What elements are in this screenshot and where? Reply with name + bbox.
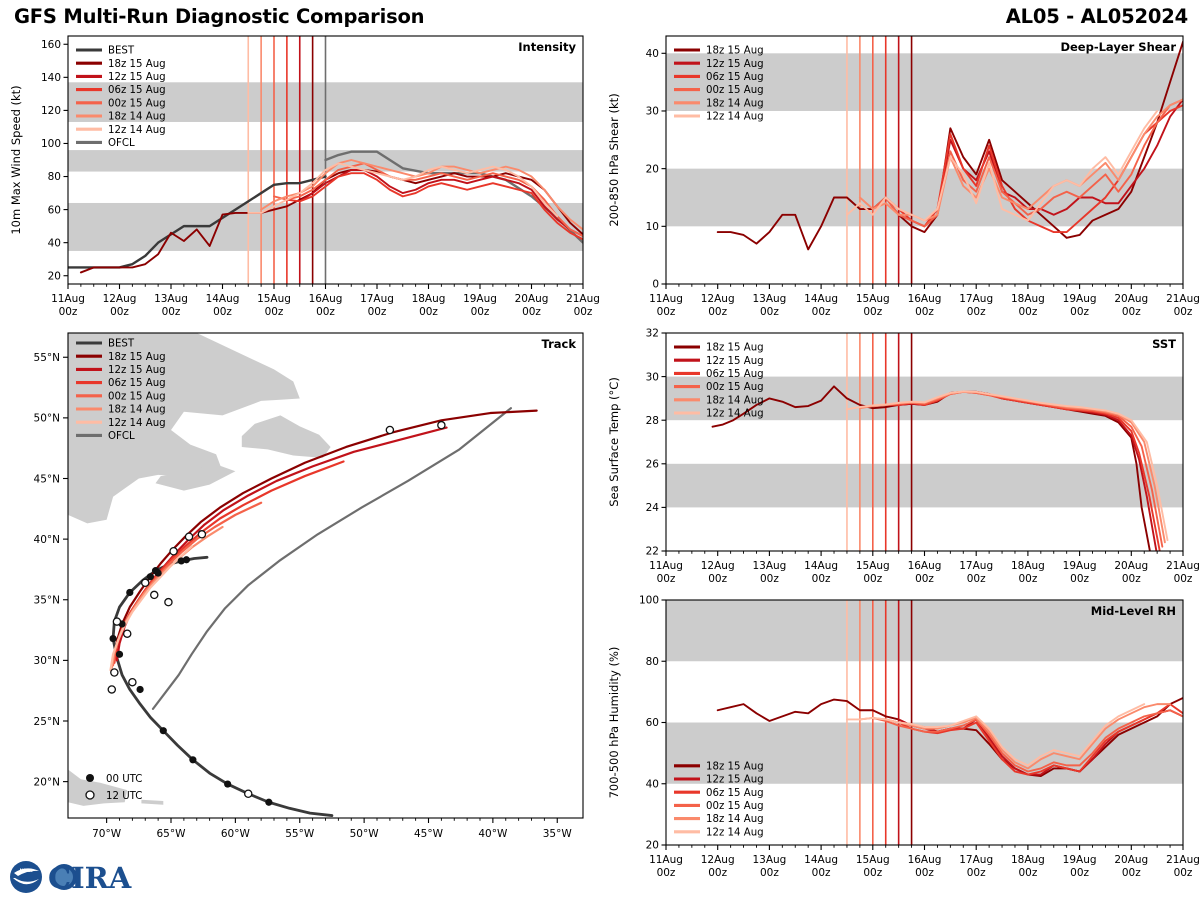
x-tick-label-date: 19Aug [1063,854,1097,866]
x-tick-label-date: 17Aug [959,854,993,866]
x-tick-label-hour: 00z [812,573,831,585]
x-tick-label-date: 16Aug [309,293,343,305]
y-tick-label: 100 [639,595,659,607]
panel-title: Deep-Layer Shear [1060,40,1176,54]
legend-label: 06z 15 Aug [108,85,166,96]
x-tick-label-date: 21Aug [566,293,600,305]
marker-12utc [386,426,393,433]
x-tick-label-date: 12Aug [701,293,735,305]
x-tick-label-hour: 00z [708,867,727,879]
x-tick-label-hour: 00z [967,306,986,318]
x-tick-label-hour: 00z [657,306,676,318]
x-tick-label-hour: 00z [760,867,779,879]
legend-label: 18z 15 Aug [706,761,764,772]
y-tick-label: 60 [646,717,659,729]
x-tick-label-date: 12Aug [701,560,735,572]
legend-label: 12z 15 Aug [706,356,764,367]
y-tick-label: 140 [41,72,61,84]
x-tick-label-hour: 00z [265,306,284,318]
legend-label: 06z 15 Aug [706,72,764,83]
y-tick-label: 10 [646,221,659,233]
marker-12utc [165,599,172,606]
x-tick-label-date: 20Aug [1114,854,1148,866]
x-tick-label-hour: 00z [1122,867,1141,879]
marker-00utc [160,727,167,734]
legend-label: 12z 15 Aug [706,59,764,70]
x-tick-label-hour: 00z [915,306,934,318]
x-tick-label-date: 18Aug [412,293,446,305]
x-tick-label-hour: 00z [1122,573,1141,585]
marker-00utc [126,589,133,596]
sst-chart: 22242628303211Aug00z12Aug00z13Aug00z14Au… [600,325,1200,592]
x-tick-label-date: 15Aug [856,560,890,572]
x-tick-label-date: 13Aug [752,560,786,572]
x-tick-label-hour: 00z [863,573,882,585]
intensity-chart: 2040608010012014016011Aug00z12Aug00z13Au… [0,28,600,325]
legend-label: 18z 15 Aug [108,352,166,363]
legend-label: 18z 14 Aug [108,112,166,123]
marker-12utc [111,669,118,676]
x-tick-label-date: 11Aug [649,854,683,866]
marker-00utc [224,780,231,787]
storm-id-title: AL05 - AL052024 [1006,5,1188,28]
sst-panel[interactable]: 22242628303211Aug00z12Aug00z13Aug00z14Au… [600,325,1200,592]
x-tick-label-hour: 00z [1174,306,1193,318]
x-tick-label-hour: 00z [1174,867,1193,879]
svg-text:NOAA: NOAA [20,868,34,873]
marker-12utc [129,679,136,686]
marker-legend-00utc-icon [86,774,94,782]
x-tick-label-hour: 00z [110,306,129,318]
x-tick-label-date: 21Aug [1166,854,1200,866]
marker-00utc [137,686,144,693]
x-tick-label-hour: 00z [915,573,934,585]
shaded-band-0 [666,464,1183,508]
x-tick-label-date: 20Aug [1114,560,1148,572]
lon-tick-label: 65°W [157,828,187,840]
marker-legend-label: 12 UTC [106,791,142,802]
panel-title: Track [542,337,577,351]
x-tick-label-hour: 00z [522,306,541,318]
marker-00utc [189,756,196,763]
y-tick-label: 40 [646,48,659,60]
x-tick-label-date: 16Aug [908,854,942,866]
x-tick-label-hour: 00z [59,306,78,318]
x-tick-label-hour: 00z [967,867,986,879]
legend-label: BEST [108,339,135,350]
legend-label: 18z 14 Aug [706,814,764,825]
x-tick-label-hour: 00z [316,306,335,318]
track-chart: 20°N25°N30°N35°N40°N45°N50°N55°N70°W65°W… [0,325,600,860]
cira-wordmark: CIRA [48,861,132,895]
x-tick-label-date: 17Aug [360,293,394,305]
x-tick-label-hour: 00z [574,306,593,318]
x-tick-label-date: 18Aug [1011,293,1045,305]
legend-label: 00z 15 Aug [108,391,166,402]
x-tick-label-hour: 00z [419,306,438,318]
x-tick-label-date: 13Aug [154,293,188,305]
y-axis-label: 200-850 hPa Shear (kt) [607,93,621,226]
x-tick-label-date: 13Aug [752,293,786,305]
legend-label: OFCL [108,431,135,442]
x-tick-label-hour: 00z [915,867,934,879]
x-tick-label-hour: 00z [708,306,727,318]
legend-label: OFCL [108,138,135,149]
y-tick-label: 32 [646,328,659,340]
marker-12utc [245,790,252,797]
y-tick-label: 120 [41,105,61,117]
lat-tick-label: 25°N [34,716,60,728]
x-tick-label-hour: 00z [863,306,882,318]
marker-00utc [147,573,154,580]
x-tick-label-hour: 00z [1122,306,1141,318]
lon-tick-label: 35°W [543,828,573,840]
marker-12utc [108,686,115,693]
legend-label: 12z 15 Aug [108,365,166,376]
x-tick-label-date: 14Aug [804,293,838,305]
x-tick-label-date: 19Aug [1063,560,1097,572]
legend-label: 06z 15 Aug [706,788,764,799]
y-tick-label: 20 [646,163,659,175]
track-panel[interactable]: 20°N25°N30°N35°N40°N45°N50°N55°N70°W65°W… [0,325,600,860]
legend-label: 06z 15 Aug [108,378,166,389]
legend-label: 18z 14 Aug [706,395,764,406]
legend-label: 06z 15 Aug [706,369,764,380]
x-tick-label-date: 15Aug [257,293,291,305]
marker-12utc [124,630,131,637]
legend-label: 12z 14 Aug [706,827,764,838]
noaa-logo-icon: NOAA [10,861,42,893]
legend-label: 18z 14 Aug [108,405,166,416]
lat-tick-label: 50°N [34,413,60,425]
marker-00utc [183,556,190,563]
x-tick-label-hour: 00z [1070,867,1089,879]
marker-12utc [151,591,158,598]
y-tick-label: 0 [652,279,659,291]
x-tick-label-date: 11Aug [51,293,85,305]
marker-00utc [155,569,162,576]
marker-00utc [116,651,123,658]
legend-label: 00z 15 Aug [706,85,764,96]
x-tick-label-date: 20Aug [1114,293,1148,305]
x-tick-label-hour: 00z [760,306,779,318]
x-tick-label-date: 15Aug [856,293,890,305]
legend-label: 12z 14 Aug [108,125,166,136]
x-tick-label-date: 18Aug [1011,560,1045,572]
x-tick-label-hour: 00z [1018,573,1037,585]
intensity-panel[interactable]: 2040608010012014016011Aug00z12Aug00z13Au… [0,28,600,325]
x-tick-label-hour: 00z [368,306,387,318]
y-tick-label: 60 [48,204,61,216]
y-tick-label: 80 [646,656,659,668]
panel-title: Intensity [518,40,576,54]
marker-legend-12utc-icon [86,791,94,799]
x-tick-label-hour: 00z [967,573,986,585]
x-tick-label-date: 12Aug [701,854,735,866]
x-tick-label-hour: 00z [1174,573,1193,585]
x-tick-label-date: 16Aug [908,560,942,572]
legend-label: 12z 14 Aug [108,418,166,429]
x-tick-label-hour: 00z [1070,573,1089,585]
legend-label: 18z 15 Aug [108,59,166,70]
y-tick-label: 20 [48,270,61,282]
logo-svg: NOAA CIRA [6,856,156,898]
y-tick-label: 80 [48,171,61,183]
x-tick-label-hour: 00z [1018,867,1037,879]
y-tick-label: 24 [646,502,660,514]
shear-panel[interactable]: 01020304011Aug00z12Aug00z13Aug00z14Aug00… [600,28,1200,325]
lat-tick-label: 30°N [34,655,60,667]
x-tick-label-date: 14Aug [206,293,240,305]
x-tick-label-hour: 00z [760,573,779,585]
rh-chart: 2040608010011Aug00z12Aug00z13Aug00z14Aug… [600,592,1200,892]
legend-label: 18z 15 Aug [706,46,764,57]
lon-tick-label: 70°W [92,828,122,840]
x-tick-label-date: 17Aug [959,293,993,305]
legend-label: 12z 15 Aug [108,72,166,83]
y-tick-label: 40 [646,778,659,790]
x-tick-label-hour: 00z [162,306,181,318]
page-title: GFS Multi-Run Diagnostic Comparison [14,5,424,28]
y-tick-label: 100 [41,138,61,150]
marker-12utc [198,531,205,538]
x-tick-label-date: 19Aug [1063,293,1097,305]
x-tick-label-hour: 00z [471,306,490,318]
x-tick-label-hour: 00z [657,573,676,585]
y-tick-label: 160 [41,39,61,51]
legend-label: 12z 14 Aug [706,409,764,420]
y-tick-label: 20 [646,840,659,852]
x-tick-label-date: 17Aug [959,560,993,572]
x-tick-label-date: 20Aug [515,293,549,305]
y-tick-label: 40 [48,237,61,249]
x-tick-label-hour: 00z [708,573,727,585]
marker-00utc [109,635,116,642]
x-tick-label-date: 12Aug [103,293,137,305]
legend-label: 12z 15 Aug [706,775,764,786]
y-axis-label: Sea Surface Temp (°C) [607,377,621,507]
x-tick-label-date: 14Aug [804,560,838,572]
y-axis-label: 10m Max Wind Speed (kt) [9,85,23,234]
shear-chart: 01020304011Aug00z12Aug00z13Aug00z14Aug00… [600,28,1200,325]
legend-label: 00z 15 Aug [706,382,764,393]
cira-text: CIRA [48,861,132,895]
x-tick-label-date: 15Aug [856,854,890,866]
cira-noaa-logo: NOAA CIRA [6,856,156,898]
x-tick-label-date: 19Aug [463,293,497,305]
legend-label: 00z 15 Aug [706,801,764,812]
y-tick-label: 30 [646,371,659,383]
marker-12utc [170,548,177,555]
x-tick-label-date: 21Aug [1166,560,1200,572]
y-tick-label: 30 [646,106,659,118]
panel-title: SST [1152,337,1176,351]
x-tick-label-date: 18Aug [1011,854,1045,866]
lon-tick-label: 60°W [221,828,251,840]
lon-tick-label: 50°W [350,828,380,840]
lat-tick-label: 40°N [34,534,60,546]
y-tick-label: 22 [646,546,659,558]
x-tick-label-hour: 00z [863,867,882,879]
x-tick-label-date: 11Aug [649,293,683,305]
marker-12utc [438,422,445,429]
y-tick-label: 26 [646,459,660,471]
lon-tick-label: 40°W [478,828,508,840]
lat-tick-label: 35°N [34,595,60,607]
marker-12utc [142,579,149,586]
marker-legend-label: 00 UTC [106,774,142,785]
x-tick-label-hour: 00z [812,306,831,318]
x-tick-label-hour: 00z [657,867,676,879]
x-tick-label-date: 21Aug [1166,293,1200,305]
marker-00utc [265,799,272,806]
marker-12utc [113,618,120,625]
x-tick-label-hour: 00z [1018,306,1037,318]
rh-panel[interactable]: 2040608010011Aug00z12Aug00z13Aug00z14Aug… [600,592,1200,892]
lat-tick-label: 20°N [34,776,60,788]
y-tick-label: 28 [646,415,659,427]
x-tick-label-hour: 00z [812,867,831,879]
x-tick-label-hour: 00z [1070,306,1089,318]
legend-label: 18z 14 Aug [706,98,764,109]
x-tick-label-hour: 00z [213,306,232,318]
x-tick-label-date: 13Aug [752,854,786,866]
legend-label: 00z 15 Aug [108,98,166,109]
lat-tick-label: 45°N [34,473,60,485]
legend-label: BEST [108,46,135,57]
x-tick-label-date: 14Aug [804,854,838,866]
x-tick-label-date: 16Aug [908,293,942,305]
lat-tick-label: 55°N [34,352,60,364]
panel-title: Mid-Level RH [1091,604,1176,618]
marker-12utc [185,533,192,540]
y-axis-label: 700-500 hPa Humidity (%) [607,647,621,799]
legend-label: 18z 15 Aug [706,343,764,354]
lon-tick-label: 45°W [414,828,444,840]
legend-label: 12z 14 Aug [706,112,764,123]
lon-tick-label: 55°W [285,828,315,840]
x-tick-label-date: 11Aug [649,560,683,572]
